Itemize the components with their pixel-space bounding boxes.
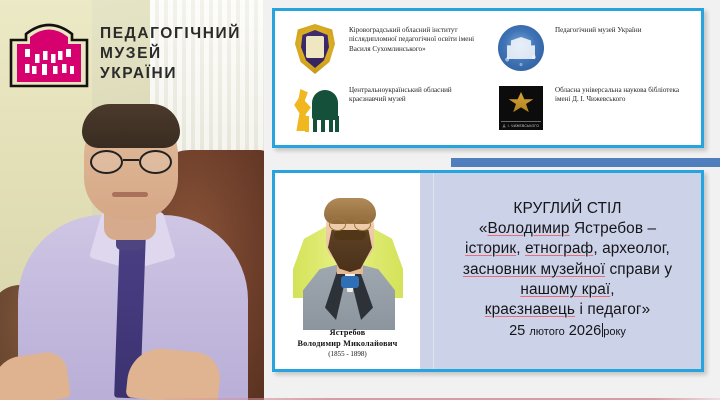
date-day: 25	[509, 323, 525, 339]
panel-gutter	[420, 173, 434, 369]
portrait-life-dates: (1855 - 1898)	[275, 350, 420, 358]
logo-line-1: ПЕДАГОГІЧНИЙ	[100, 24, 241, 44]
date-suffix: року	[603, 326, 626, 338]
logo-line-3: УКРАЇНИ	[100, 64, 241, 84]
portrait-name-line1: Ястребов	[275, 327, 420, 338]
portrait-name-line2: Володимир Миколайович	[275, 338, 420, 349]
organizer-name: Кіровоградський обласний інститут післяд…	[349, 23, 487, 54]
organizer-item: Д. І. ЧИЖЕВСЬКОГО Обласна універсальна н…	[495, 83, 693, 135]
date-year: 2026	[569, 323, 601, 339]
yastrebov-portrait-icon	[285, 178, 411, 328]
announcement-line-title: КРУГЛИЙ СТІЛ	[440, 199, 695, 219]
organizers-logo-panel: Кіровоградський обласний інститут післяд…	[272, 8, 704, 148]
pedagogical-museum-emblem-icon	[495, 23, 547, 75]
local-lore-museum-emblem-icon	[289, 83, 341, 135]
museum-building-icon	[8, 18, 90, 90]
organizers-grid: Кіровоградський обласний інститут післяд…	[289, 23, 693, 139]
eyeglasses-icon	[88, 150, 174, 174]
event-announcement-panel: Ястребов Володимир Миколайович (1855 - 1…	[272, 170, 704, 372]
speaker-video-feed[interactable]: ПЕДАГОГІЧНИЙ МУЗЕЙ УКРАЇНИ	[0, 0, 264, 400]
announcement-line-5: нашому краї,	[440, 280, 695, 300]
speaker-mouth	[112, 192, 148, 197]
kirovohrad-institute-emblem-icon	[289, 23, 341, 75]
announcement-line-3: історик, етнограф, археолог,	[440, 239, 695, 259]
slide-canvas: ПЕДАГОГІЧНИЙ МУЗЕЙ УКРАЇНИ Кіровоградськ…	[0, 0, 720, 400]
organizer-item: Педагогічний музей України	[495, 23, 693, 81]
announcement-line-2: «Володимир Ястребов –	[440, 219, 695, 239]
pedagogical-museum-logo: ПЕДАГОГІЧНИЙ МУЗЕЙ УКРАЇНИ	[8, 18, 240, 96]
portrait-card: Ястребов Володимир Миколайович (1855 - 1…	[275, 173, 420, 369]
chyzhevsky-library-emblem-icon: Д. І. ЧИЖЕВСЬКОГО	[495, 83, 547, 135]
organizer-item: Центральноукраїнський обласний краєзнавч…	[289, 83, 487, 135]
announcement-text-block[interactable]: КРУГЛИЙ СТІЛ «Володимир Ястребов – істор…	[434, 173, 701, 369]
decorative-divider-bar	[451, 158, 720, 167]
announcement-line-6: краєзнавець і педагог»	[440, 300, 695, 320]
logo-line-2: МУЗЕЙ	[100, 44, 241, 64]
speaker-hand-left	[0, 350, 71, 400]
organizer-name: Педагогічний музей України	[555, 23, 642, 35]
organizer-name: Обласна універсальна наукова бібліотека …	[555, 83, 693, 105]
announcement-date-line: 25 лютого 2026року	[440, 321, 695, 343]
announcement-line-4: засновник музейної справи у	[440, 260, 695, 280]
logo-wordmark: ПЕДАГОГІЧНИЙ МУЗЕЙ УКРАЇНИ	[100, 24, 241, 84]
organizer-item: Кіровоградський обласний інститут післяд…	[289, 23, 487, 81]
portrait-caption: Ястребов Володимир Миколайович (1855 - 1…	[275, 327, 420, 358]
organizer-name: Центральноукраїнський обласний краєзнавч…	[349, 83, 487, 105]
date-month: лютого	[529, 326, 564, 338]
speaker-hair	[82, 104, 180, 148]
